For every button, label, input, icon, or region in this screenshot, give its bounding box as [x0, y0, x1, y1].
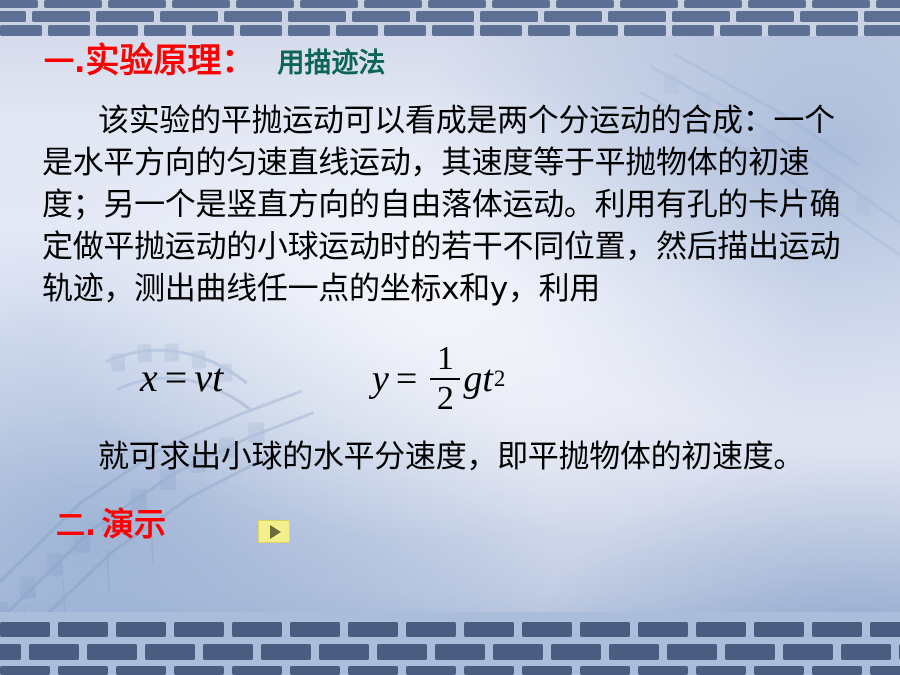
section-one-subtitle: 用描迹法 [277, 48, 385, 79]
fraction-numerator: 1 [433, 342, 458, 377]
formula-row: x=vt y=12gt2 [0, 340, 900, 420]
formula-y-fraction: 12 [430, 342, 460, 416]
play-triangle-shape [270, 525, 281, 539]
play-triangle-icon[interactable] [258, 520, 290, 543]
fraction-denominator: 2 [433, 381, 458, 416]
formula-y-rhs: gt [463, 357, 493, 401]
presentation-slide: 一.实验原理：用描迹法 该实验的平抛运动可以看成是两个分运动的合成：一个是水平方… [0, 0, 900, 675]
formula-y-lhs: y [372, 357, 389, 401]
conclusion-paragraph: 就可求出小球的水平分速度，即平抛物体的初速度。 [42, 436, 872, 478]
formula-x-lhs: x [140, 355, 158, 400]
formula-vertical-displacement: y=12gt2 [372, 342, 505, 416]
formula-y-exponent: 2 [494, 366, 506, 392]
formula-horizontal-displacement: x=vt [140, 354, 223, 401]
section-two-number: 二. [56, 508, 96, 542]
body-paragraph: 该实验的平抛运动可以看成是两个分运动的合成：一个是水平方向的匀速直线运动，其速度… [42, 100, 862, 310]
section-one-title: 实验原理： [85, 41, 255, 81]
section-heading-one: 一.实验原理：用描迹法 [44, 44, 385, 78]
slide-content: 一.实验原理：用描迹法 该实验的平抛运动可以看成是两个分运动的合成：一个是水平方… [0, 0, 900, 675]
formula-x-equals: = [165, 355, 188, 400]
section-two-title: 演示 [102, 505, 166, 543]
formula-x-rhs: vt [194, 355, 223, 400]
section-one-number: 一. [44, 45, 85, 80]
formula-y-equals: = [396, 357, 417, 401]
conclusion-text: 就可求出小球的水平分速度，即平抛物体的初速度。 [98, 439, 804, 475]
body-paragraph-text: 该实验的平抛运动可以看成是两个分运动的合成：一个是水平方向的匀速直线运动，其速度… [42, 103, 840, 307]
section-heading-two: 二.演示 [56, 508, 166, 540]
